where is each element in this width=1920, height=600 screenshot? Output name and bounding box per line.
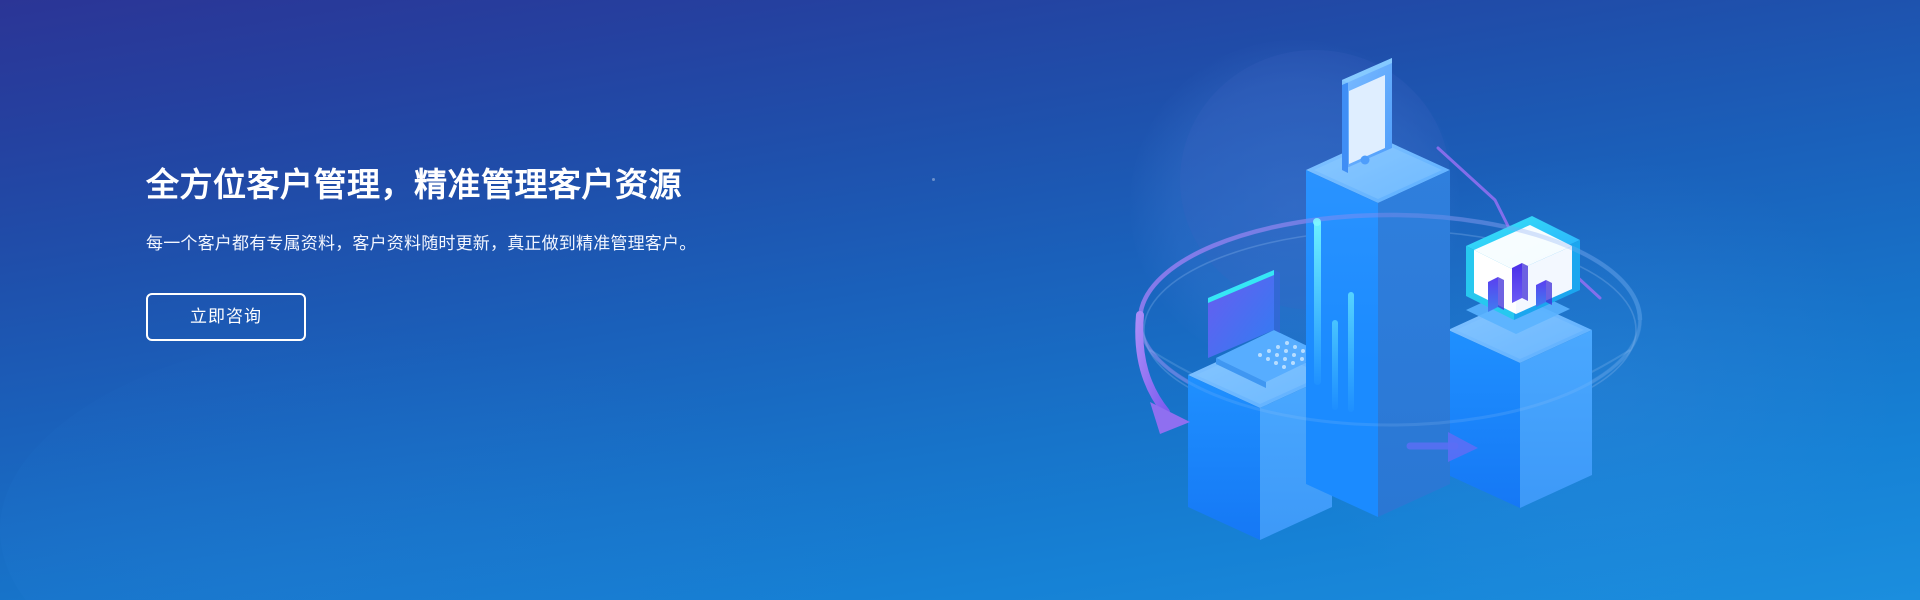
banner-subtitle: 每一个客户都有专属资料，客户资料随时更新，真正做到精准管理客户。 [146, 207, 736, 257]
consult-now-button[interactable]: 立即咨询 [146, 293, 306, 341]
monitor-chart-icon [1466, 216, 1580, 334]
hero-banner: 全方位客户管理，精准管理客户资源 每一个客户都有专属资料，客户资料随时更新，真正… [0, 0, 1920, 600]
hero-illustration [1110, 30, 1670, 570]
banner-copy: 全方位客户管理，精准管理客户资源 每一个客户都有专属资料，客户资料随时更新，真正… [146, 163, 786, 341]
center-pillar [1306, 137, 1450, 517]
left-down-arrow-icon [1139, 315, 1190, 434]
background-glow-bottom-left [0, 320, 900, 600]
sparkle-icon [1313, 218, 1321, 226]
banner-headline: 全方位客户管理，精准管理客户资源 [146, 163, 786, 207]
decorative-speck [932, 178, 935, 181]
